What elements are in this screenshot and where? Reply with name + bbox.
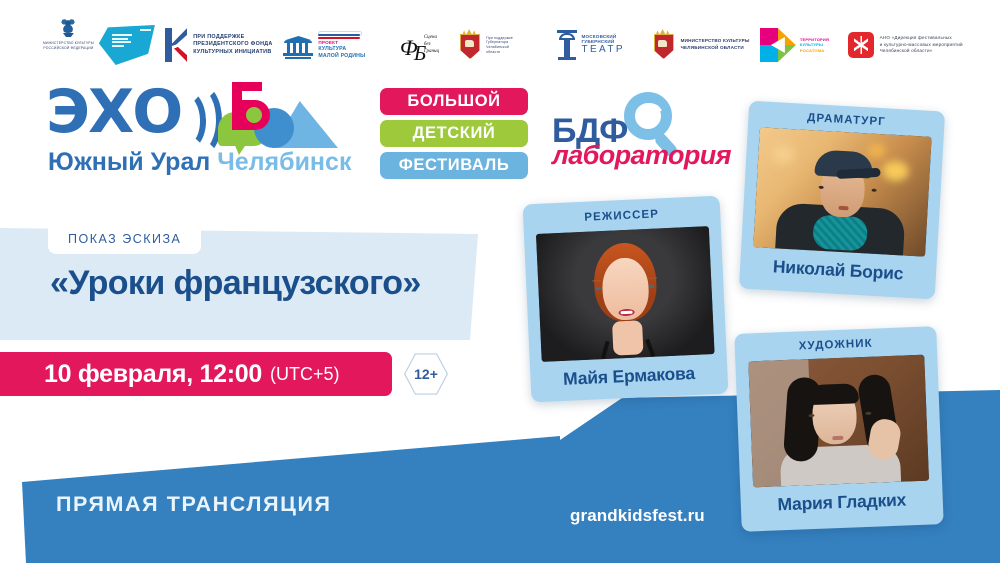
sponsor-line: области: [486, 50, 513, 55]
sponsor-line: Челябинской области»: [880, 48, 963, 55]
letter-b-shape: [232, 82, 276, 130]
sponsor-line: КУЛЬТУРНЫХ ИНИЦИАТИВ: [193, 49, 272, 56]
russian-flag-ribbon-icon: [318, 31, 360, 39]
sponsor-governor-of-chelyabinsk-region: При поддержке Губернатора Челябинской об…: [457, 16, 557, 74]
rosatom-k-mark-icon: [760, 28, 796, 62]
double-headed-eagle-icon: [58, 16, 78, 38]
sponsor-presidential-fund-cultural-initiatives: ПРИ ПОДДЕРЖКЕ ПРЕЗИДЕНТСКОГО ФОНДА КУЛЬТ…: [165, 16, 283, 74]
person-photo: [748, 355, 929, 488]
echo-logo-subtitle: Южный Урал Челябинск: [48, 150, 351, 175]
echo-region-label: Южный Урал: [48, 148, 210, 176]
sponsor-logo-row: МИНИСТЕРСТВО КУЛЬТУРЫ РОССИЙСКОЙ ФЕДЕРАЦ…: [38, 14, 982, 76]
poster-canvas: МИНИСТЕРСТВО КУЛЬТУРЫ РОССИЙСКОЙ ФЕДЕРАЦ…: [0, 0, 1000, 563]
sponsor-line: МИНИСТЕРСТВО КУЛЬТУРЫ: [43, 41, 94, 46]
sponsor-line: РОСАТОМА: [800, 48, 829, 53]
sponsor-line: ПРИ ПОДДЕРЖКЕ: [193, 34, 272, 41]
laboratory-label: лаборатория: [552, 142, 731, 169]
sponsor-line: МИНИСТЕРСТВО КУЛЬТУРЫ: [681, 38, 750, 45]
person-photo: [536, 226, 715, 362]
decorative-lines: [112, 34, 134, 48]
website-link[interactable]: grandkidsfest.ru: [570, 506, 705, 526]
person-role-label: ХУДОЖНИК: [735, 335, 937, 355]
sponsor-line: ЧЕЛЯБИНСКОЙ ОБЛАСТИ: [681, 45, 750, 52]
person-card-artist: ХУДОЖНИК Мария Гладких: [734, 326, 943, 532]
temple-building-icon: [283, 32, 313, 58]
portrait-nikolay-boris: [753, 127, 931, 256]
sponsor-line: ПРОЕКТ: [318, 40, 365, 45]
person-card-dramaturg: ДРАМАТУРГ Николай Борис: [739, 101, 945, 300]
portrait-maya-ermakova: [536, 226, 715, 362]
event-datetime-bar: 10 февраля, 12:00 (UTC+5): [0, 352, 392, 396]
sponsor-ano-directorate-of-festivals: АНО «Дирекция фестивальных и культурно-м…: [848, 16, 982, 74]
ano-directorate-mark-icon: [848, 32, 874, 58]
person-name-label: Майя Ермакова: [530, 361, 728, 391]
sponsor-ministry-of-culture-chelyabinsk: МИНИСТЕРСТВО КУЛЬТУРЫ ЧЕЛЯБИНСКОЙ ОБЛАСТ…: [651, 16, 760, 74]
decorative-tag: [140, 29, 151, 31]
sponsor-line: МАЛОЙ РОДИНЫ: [318, 53, 365, 59]
national-project-badge-icon: [99, 25, 155, 65]
sponsor-project-culture-of-small-homeland: ПРОЕКТ КУЛЬТУРА МАЛОЙ РОДИНЫ: [283, 16, 394, 74]
sponsor-line: ПРЕЗИДЕНТСКОГО ФОНДА: [193, 41, 272, 48]
event-timezone-label: (UTC+5): [270, 364, 340, 385]
event-date-label: 10 февраля, 12:00: [44, 360, 262, 389]
echo-wordmark-row: ЭХО: [46, 84, 346, 146]
sponsor-line: КУЛЬТУРА: [318, 46, 365, 52]
pill-bolshoy: БОЛЬШОЙ: [380, 88, 528, 115]
echo-city-label: Челябинск: [217, 148, 351, 176]
sponsor-moscow-governorate-theatre: МОСКОВСКИЙ ГУБЕРНСКИЙ ТЕАТР: [557, 16, 650, 74]
bdf-laboratory-logo: БДФ лаборатория: [552, 92, 722, 174]
age-rating-badge: 12+: [404, 352, 448, 396]
sketch-showing-tag: ПОКАЗ ЭСКИЗА: [48, 224, 201, 254]
chelyabinsk-coat-of-arms-icon: [457, 29, 481, 61]
presidential-fund-icon: [165, 28, 187, 62]
page-title: «Уроки французского»: [50, 266, 421, 300]
person-name-label: Николай Борис: [740, 254, 937, 286]
age-rating-label: 12+: [404, 352, 448, 396]
echo-arc-outer-icon: [180, 84, 222, 156]
column-icon: [557, 30, 577, 60]
bdf-symbol-icon: [218, 84, 338, 150]
sponsor-line: Границ: [424, 48, 439, 56]
pill-detskiy: ДЕТСКИЙ: [380, 120, 528, 147]
sponsor-ministry-of-culture-rf: МИНИСТЕРСТВО КУЛЬТУРЫ РОССИЙСКОЙ ФЕДЕРАЦ…: [38, 16, 99, 74]
sponsor-line: РОССИЙСКОЙ ФЕДЕРАЦИИ: [43, 46, 94, 51]
sponsor-territory-of-rosatom-culture: ТЕРРИТОРИЯ КУЛЬТУРЫ РОСАТОМА: [760, 16, 848, 74]
echo-wordmark: ЭХО: [46, 82, 181, 142]
portrait-mariya-gladkih: [748, 355, 929, 488]
sponsor-line: АНО «Дирекция фестивальных: [880, 35, 963, 42]
chelyabinsk-coat-of-arms-icon: [651, 29, 675, 61]
live-broadcast-label: ПРЯМАЯ ТРАНСЛЯЦИЯ: [56, 492, 332, 517]
person-name-label: Мария Гладких: [740, 488, 943, 517]
person-card-director: РЕЖИССЕР Майя Ермакова: [523, 196, 729, 403]
person-role-label: РЕЖИССЕР: [523, 206, 720, 227]
echo-festival-logo: ЭХО Южный Урал Челябинск: [46, 84, 346, 184]
sponsor-line: ТЕАТР: [581, 45, 624, 55]
festival-name-pills: БОЛЬШОЙ ДЕТСКИЙ ФЕСТИВАЛЬ: [380, 88, 528, 184]
sponsor-national-project-culture: [99, 16, 165, 74]
person-photo: [753, 127, 931, 256]
pill-festival: ФЕСТИВАЛЬ: [380, 152, 528, 179]
sponsor-union-without-borders: ФБ Сцена без Границ: [394, 16, 457, 74]
scene-without-borders-monogram-icon: ФБ Сцена без Границ: [400, 25, 452, 65]
